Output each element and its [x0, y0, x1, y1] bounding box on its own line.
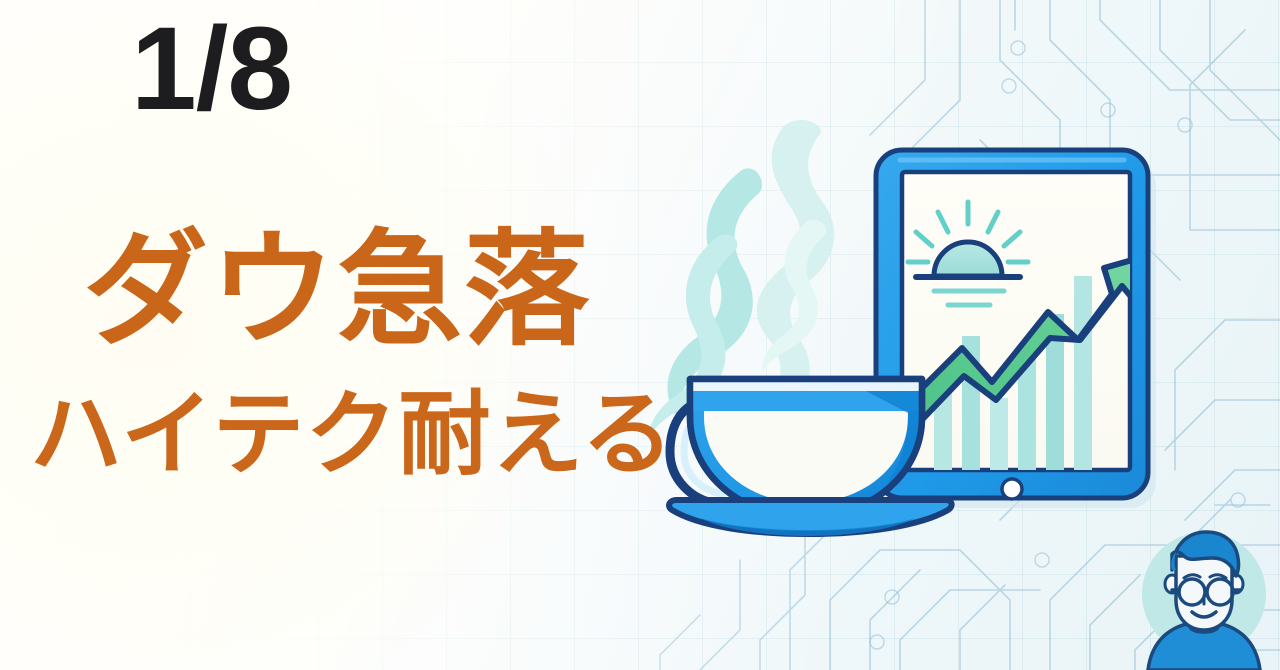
page-subtitle: ハイテク耐える — [30, 389, 675, 481]
thumbnail-canvas: 1/8 ダウ急落 ハイテク耐える — [0, 0, 1280, 670]
date-badge: 1/8 — [131, 10, 292, 128]
tablet-device — [876, 150, 1156, 508]
presenter-avatar — [1128, 518, 1280, 670]
page-title: ダウ急落 — [83, 228, 591, 353]
home-button — [1002, 479, 1022, 499]
coffee-cup — [669, 379, 952, 536]
